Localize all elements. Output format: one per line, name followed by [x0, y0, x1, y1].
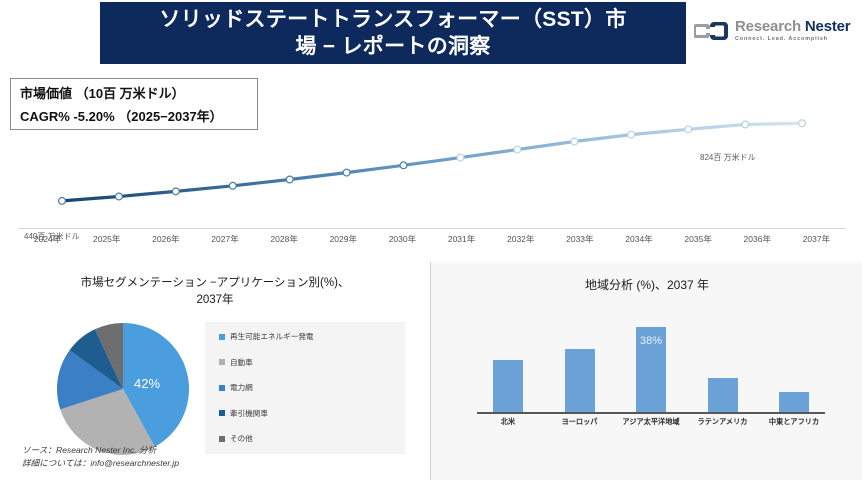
- segmentation-title-line2: 2037年: [30, 292, 400, 309]
- bar-column: [692, 322, 754, 412]
- legend-swatch-icon: [219, 359, 225, 365]
- line-data-point: [685, 126, 692, 133]
- line-data-point: [571, 138, 578, 145]
- legend-item: その他: [219, 433, 405, 444]
- legend-swatch-icon: [219, 334, 225, 340]
- year-label: 2037年: [787, 233, 846, 251]
- line-data-point: [400, 162, 407, 169]
- region-bar: 38%: [636, 327, 666, 413]
- region-bar: [779, 392, 809, 412]
- line-data-point: [286, 176, 293, 183]
- bar-column: [763, 322, 825, 412]
- region-bar: [493, 360, 523, 412]
- region-bar-labels: 北米ヨーロッパアジア太平洋地域ラテンアメリカ中東とアフリカ: [477, 417, 825, 427]
- page-title-line1: ソリッドステートトランスフォーマー（SST）市: [159, 6, 626, 33]
- market-value-line-chart: 440百 万米ドル 824百 万米ドル: [0, 64, 862, 254]
- logo-name: Research Nester: [735, 19, 850, 34]
- bar-column: [477, 322, 539, 412]
- bracket-link-icon: [694, 19, 728, 43]
- bar-column: [549, 322, 611, 412]
- pie-chart-svg: [48, 320, 198, 458]
- line-end-value-label: 824百 万米ドル: [700, 152, 756, 163]
- line-data-point: [343, 169, 350, 176]
- year-label: 2031年: [432, 233, 491, 251]
- source-line2: 詳細については：info@researchnester.jp: [22, 457, 402, 470]
- year-label: 2029年: [314, 233, 373, 251]
- legend-swatch-icon: [219, 410, 225, 416]
- legend-item: 牽引機関車: [219, 408, 405, 419]
- bar-column: 38%: [620, 322, 682, 412]
- region-bar: [565, 349, 595, 412]
- logo-text: Research Nester Connect. Lead. Accomplis…: [735, 19, 850, 42]
- region-bar-label: アジア太平洋地域: [620, 417, 682, 427]
- legend-swatch-icon: [219, 385, 225, 391]
- region-bar-label: ヨーロッパ: [549, 417, 611, 427]
- year-label: 2026年: [136, 233, 195, 251]
- brand-logo: Research Nester Connect. Lead. Accomplis…: [694, 10, 854, 52]
- year-label: 2024年: [18, 233, 77, 251]
- line-data-point: [172, 188, 179, 195]
- legend-item: 電力網: [219, 382, 405, 393]
- legend-label: 牽引機関車: [230, 408, 268, 419]
- pie-data-label: 42%: [134, 376, 160, 391]
- region-bar-label: 北米: [477, 417, 539, 427]
- application-pie-chart: 42%: [48, 320, 198, 458]
- legend-label: 自動車: [230, 357, 253, 368]
- pie-legend: 再生可能エネルギー発電自動車電力網牽引機関車その他: [205, 322, 405, 454]
- legend-label: 電力網: [230, 382, 253, 393]
- line-data-point: [457, 154, 464, 161]
- header-bar: ソリッドステートトランスフォーマー（SST）市 場 − レポートの洞察: [100, 2, 686, 64]
- source-line1: ソース：Research Nester Inc. 分析: [22, 444, 402, 457]
- region-bar-label: ラテンアメリカ: [692, 417, 754, 427]
- year-label: 2036年: [728, 233, 787, 251]
- line-data-point: [628, 131, 635, 138]
- legend-item: 再生可能エネルギー発電: [219, 331, 405, 342]
- legend-label: 再生可能エネルギー発電: [230, 331, 314, 342]
- region-bar-label: 中東とアフリカ: [763, 417, 825, 427]
- line-data-point: [116, 193, 123, 200]
- line-chart-axis: [18, 228, 846, 229]
- infographic-page: ソリッドステートトランスフォーマー（SST）市 場 − レポートの洞察 Rese…: [0, 0, 862, 485]
- page-title: ソリッドステートトランスフォーマー（SST）市 場 − レポートの洞察: [159, 6, 626, 61]
- source-note: ソース：Research Nester Inc. 分析 詳細については：info…: [22, 444, 402, 470]
- line-data-point: [799, 120, 806, 127]
- year-label: 2032年: [491, 233, 550, 251]
- line-data-point: [229, 182, 236, 189]
- region-bar-chart: 38%: [477, 322, 825, 412]
- year-label: 2030年: [373, 233, 432, 251]
- segmentation-panel: 市場セグメンテーション −アプリケーション別(%)、 2037年 42% 再生可…: [0, 262, 424, 485]
- legend-label: その他: [230, 433, 253, 444]
- logo-name-part2: Nester: [805, 18, 851, 35]
- region-bar-axis: [477, 412, 825, 414]
- legend-item: 自動車: [219, 357, 405, 368]
- year-label: 2033年: [550, 233, 609, 251]
- year-label: 2027年: [195, 233, 254, 251]
- year-label: 2028年: [255, 233, 314, 251]
- line-chart-year-labels: 2024年2025年2026年2027年2028年2029年2030年2031年…: [18, 233, 846, 251]
- page-title-line2: 場 − レポートの洞察: [159, 33, 626, 60]
- year-label: 2034年: [609, 233, 668, 251]
- logo-tagline: Connect. Lead. Accomplish: [735, 37, 850, 42]
- region-panel: 地域分析 (%)、2037 年 38% 北米ヨーロッパアジア太平洋地域ラテンアメ…: [430, 262, 862, 480]
- legend-swatch-icon: [219, 436, 225, 442]
- line-data-point: [742, 121, 749, 128]
- year-label: 2025年: [77, 233, 136, 251]
- segmentation-title: 市場セグメンテーション −アプリケーション別(%)、 2037年: [30, 275, 400, 308]
- region-title: 地域分析 (%)、2037 年: [431, 276, 862, 293]
- logo-name-part1: Research: [735, 18, 801, 35]
- line-data-point: [59, 198, 66, 205]
- year-label: 2035年: [669, 233, 728, 251]
- bar-data-label: 38%: [640, 335, 662, 347]
- region-bar: [708, 378, 738, 412]
- segmentation-title-line1: 市場セグメンテーション −アプリケーション別(%)、: [30, 275, 400, 292]
- line-data-point: [514, 146, 521, 153]
